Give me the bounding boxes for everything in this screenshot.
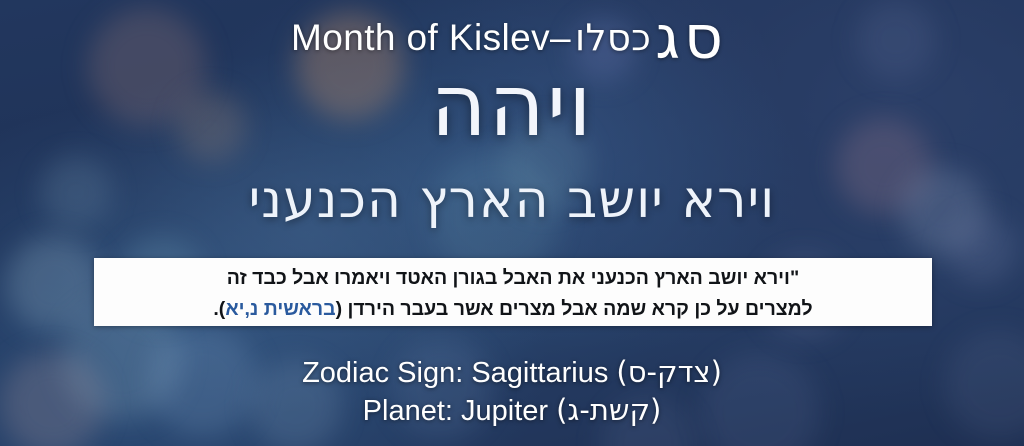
quote-line-2-tail: ). xyxy=(213,298,225,320)
verse-headline: וירא יושב הארץ הכנעני xyxy=(0,172,1024,229)
month-title-separator: – xyxy=(550,17,571,59)
planet-line: Planet: Jupiter (קשת-ג) xyxy=(0,393,1024,428)
quote-line-1: "וירא יושב הארץ הכנעני את האבל בגורן האט… xyxy=(108,263,918,294)
quote-line-2-text: למצרים על כן קרא שמה אבל מצרים אשר בעבר … xyxy=(336,298,813,320)
planet-hebrew: (קשת-ג) xyxy=(556,393,661,427)
zodiac-label: Zodiac Sign: Sagittarius xyxy=(302,357,608,389)
month-title-hebrew: כסלו xyxy=(571,16,655,59)
zodiac-line: Zodiac Sign: Sagittarius (צדק-ס) xyxy=(0,355,1024,390)
content-layer: Month of Kislev–כסלוסג ויהה וירא יושב הא… xyxy=(0,0,1024,446)
quote-box: "וירא יושב הארץ הכנעני את האבל בגורן האט… xyxy=(94,258,932,326)
quote-line-2: למצרים על כן קרא שמה אבל מצרים אשר בעבר … xyxy=(108,294,918,325)
big-hebrew-word: ויהה xyxy=(0,63,1024,149)
planet-label: Planet: Jupiter xyxy=(363,395,548,427)
month-title-english: Month of Kislev xyxy=(291,17,550,59)
kislev-banner: Month of Kislev–כסלוסג ויהה וירא יושב הא… xyxy=(0,0,1024,446)
quote-citation: בראשית נ,יא xyxy=(225,298,335,320)
zodiac-hebrew: (צדק-ס) xyxy=(616,355,722,389)
